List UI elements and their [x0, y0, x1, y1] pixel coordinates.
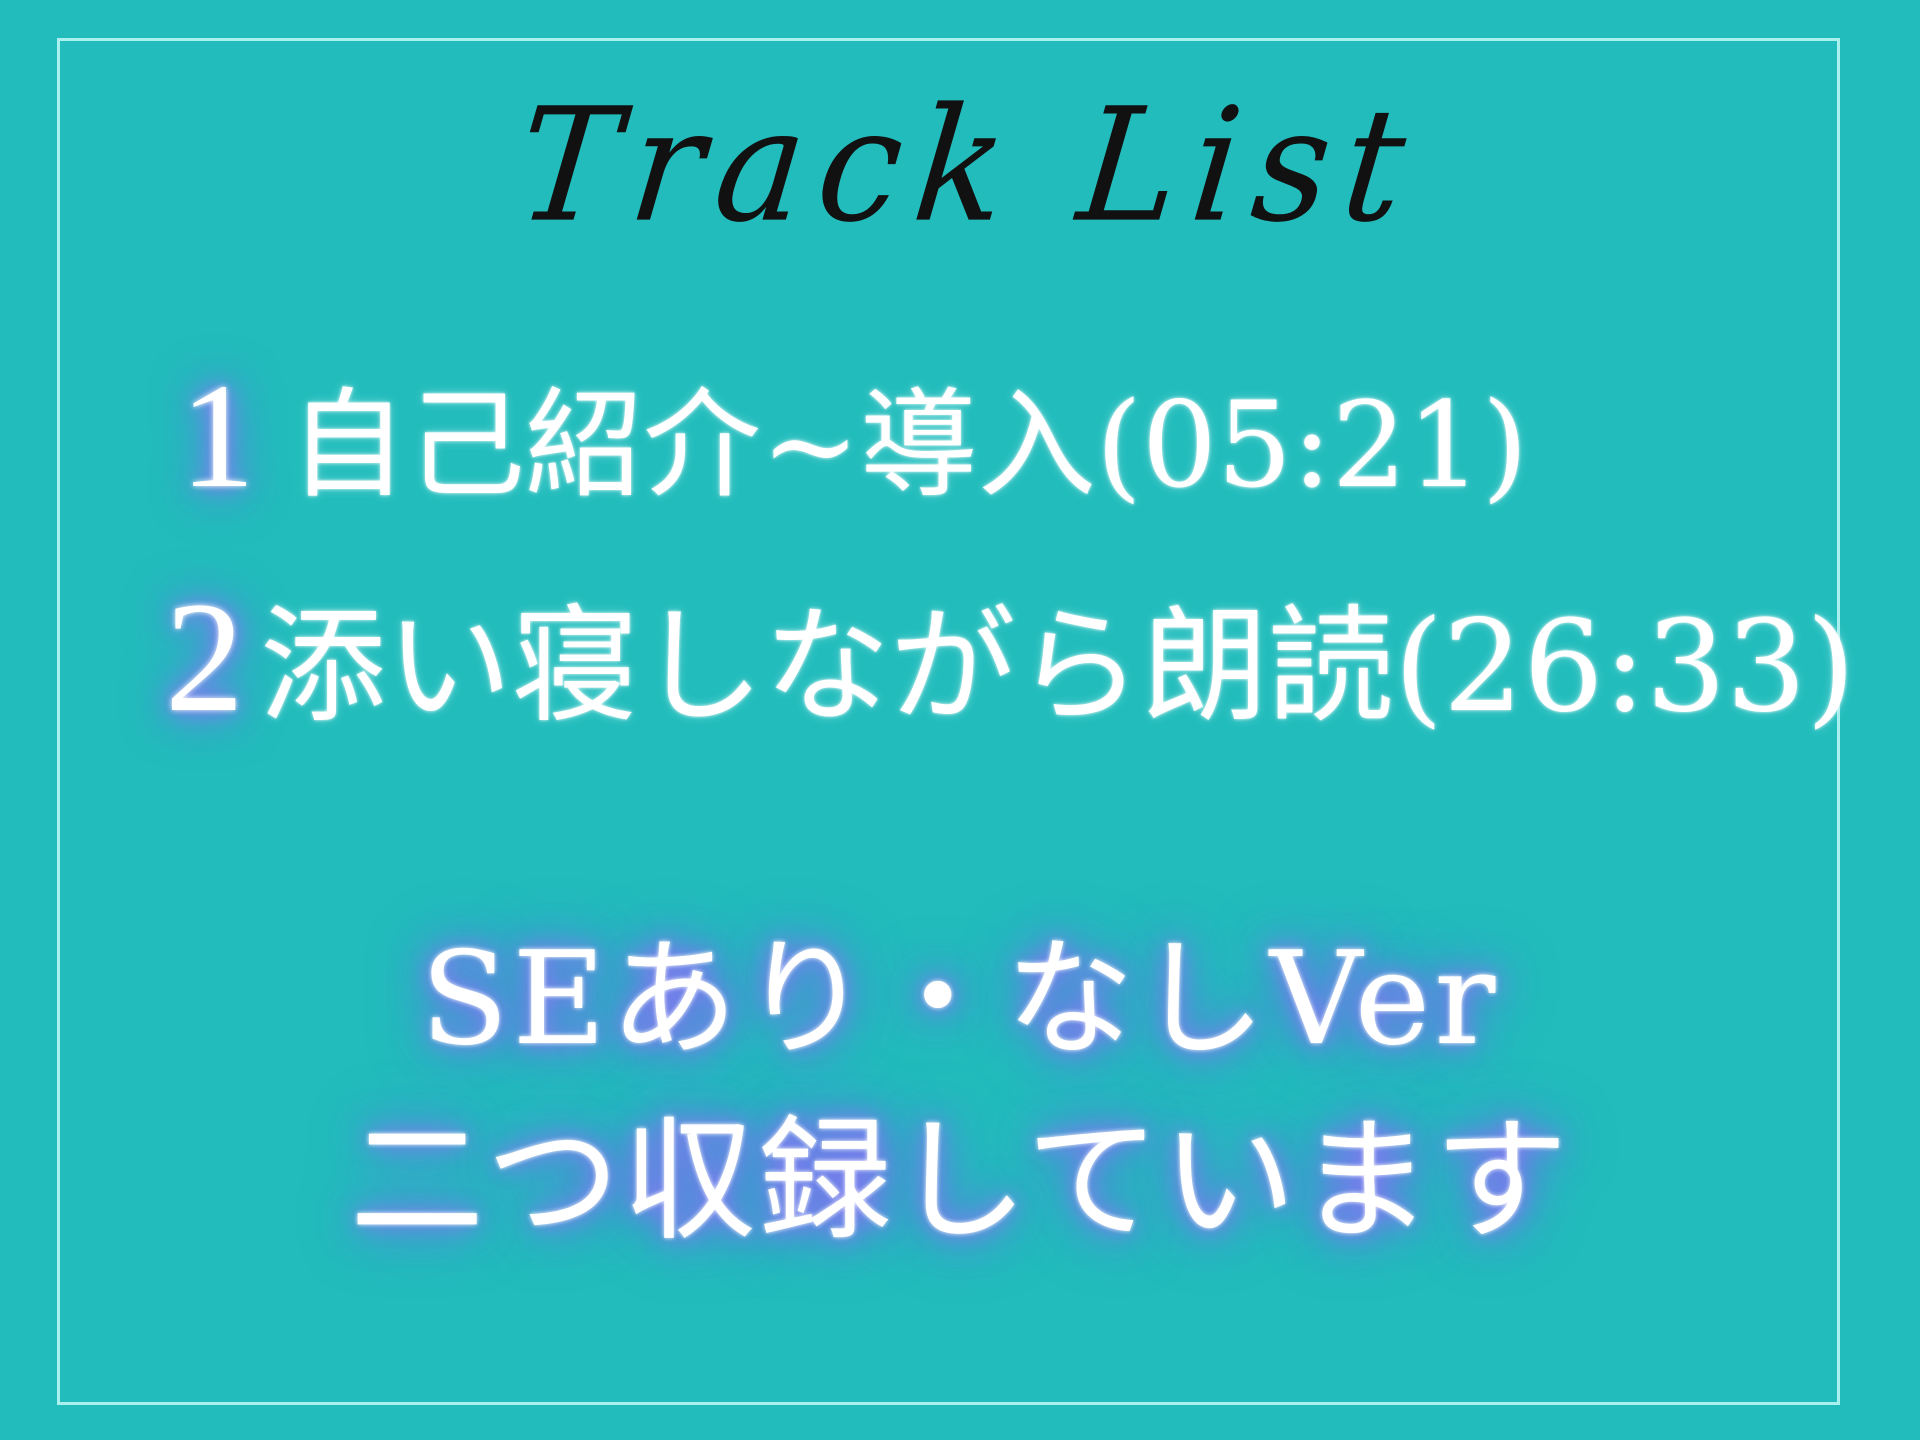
track-row: 2 添い寝しながら朗読(26:33) — [165, 570, 1855, 747]
note-line-se-versions: SEあり・なしVer — [0, 930, 1920, 1071]
track-row: 1 自己紹介~導入(05:21) — [180, 352, 1528, 520]
track-label-2: 添い寝しながら朗読(26:33) — [260, 596, 1855, 737]
note-line-two-recordings: 二つ収録しています — [0, 1108, 1920, 1255]
track-list-poster: Track List 1 自己紹介~導入(05:21) 2 添い寝しながら朗読(… — [0, 0, 1920, 1440]
page-title-container: Track List — [0, 96, 1920, 244]
track-number-1: 1 — [180, 352, 255, 520]
track-label-1: 自己紹介~導入(05:21) — [289, 379, 1528, 511]
page-title: Track List — [511, 87, 1426, 244]
track-number-2: 2 — [165, 570, 244, 747]
